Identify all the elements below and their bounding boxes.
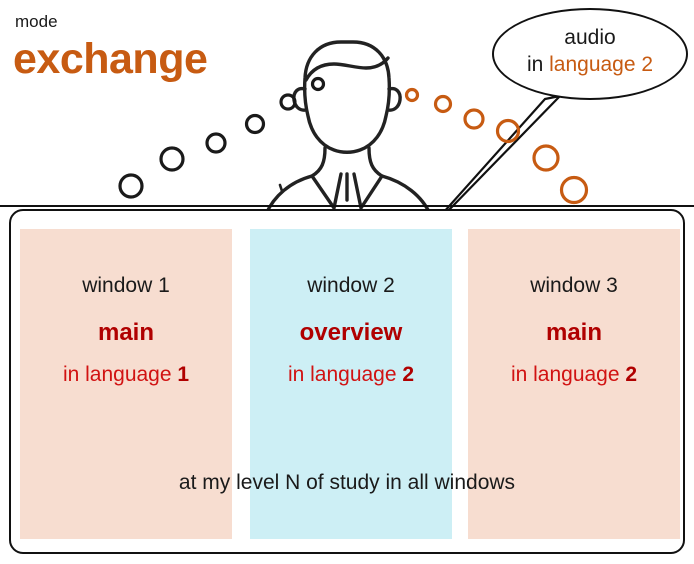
window-1-mode: main xyxy=(20,321,232,345)
speech-bubble-text: audio in language 2 xyxy=(492,25,688,79)
bubble-right-4 xyxy=(498,121,519,142)
speech-bubble-line-2: in language 2 xyxy=(492,52,688,79)
bubble-right-3 xyxy=(465,110,483,128)
speech-bubble-line-2-prefix: in xyxy=(527,53,549,76)
window-2-mode: overview xyxy=(250,321,452,345)
bubble-left-1 xyxy=(120,175,142,197)
window-1-language: in language 1 xyxy=(20,364,232,385)
bubble-right-2 xyxy=(436,97,451,112)
bubble-left-2 xyxy=(161,148,183,170)
window-1-title: window 1 xyxy=(20,275,232,296)
window-3-language-prefix: in language xyxy=(511,363,625,386)
windows-container: window 1 main in language 1 window 2 ove… xyxy=(9,209,685,554)
right-bubbles xyxy=(407,90,587,203)
speech-bubble-line-1: audio xyxy=(492,25,688,52)
bubble-right-1 xyxy=(407,90,418,101)
window-3-title: window 3 xyxy=(468,275,680,296)
window-3-mode: main xyxy=(468,321,680,345)
window-2-language-prefix: in language xyxy=(288,363,402,386)
bubble-left-4 xyxy=(247,116,264,133)
bubble-left-3 xyxy=(207,134,225,152)
window-2-language: in language 2 xyxy=(250,364,452,385)
bubble-left-6 xyxy=(313,79,324,90)
level-note: at my level N of study in all windows xyxy=(11,472,683,493)
window-1-language-prefix: in language xyxy=(63,363,177,386)
bubble-right-6 xyxy=(562,178,587,203)
window-2-title: window 2 xyxy=(250,275,452,296)
left-bubbles xyxy=(120,79,324,198)
mode-label: mode xyxy=(15,13,58,30)
speech-bubble-language-highlight: language 2 xyxy=(549,53,653,76)
window-3-language-number: 2 xyxy=(625,363,637,386)
window-3-language: in language 2 xyxy=(468,364,680,385)
mode-value-exchange: exchange xyxy=(13,38,207,81)
window-2-language-number: 2 xyxy=(402,363,414,386)
bubble-right-5 xyxy=(534,146,558,170)
window-1-language-number: 1 xyxy=(177,363,189,386)
bubble-left-5 xyxy=(281,95,295,109)
